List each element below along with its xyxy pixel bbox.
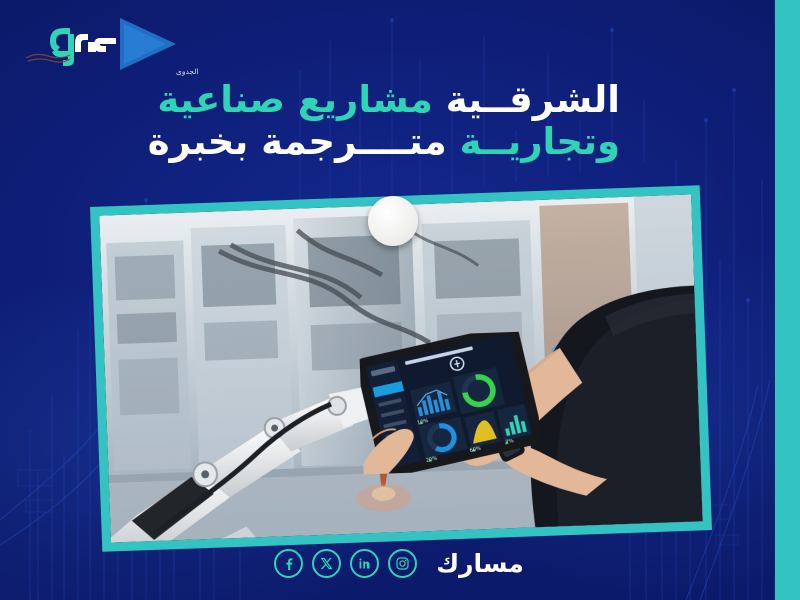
headline-line-2: وتجاريــة متــــرجمة بخبرة — [148, 122, 620, 162]
social-facebook-button[interactable] — [274, 549, 303, 578]
headline-block: الشرقــية مشاريع صناعية وتجاريــة متــــ… — [148, 80, 620, 164]
instagram-icon — [395, 556, 410, 571]
decorative-circle-marker — [368, 196, 418, 246]
x-twitter-icon — [319, 556, 334, 571]
social-x-button[interactable] — [312, 549, 341, 578]
poster-canvas: شركة مسارك للدراسات الجدوى الشرقــية مشا… — [0, 0, 800, 600]
right-edge-accent-bar — [775, 0, 800, 600]
facebook-icon — [281, 556, 297, 572]
linkedin-icon — [357, 556, 372, 571]
social-instagram-button[interactable] — [388, 549, 417, 578]
headline-line1-white: الشرقــية — [446, 78, 620, 121]
headline-line2-white: متــــرجمة بخبرة — [148, 120, 447, 163]
svg-text:شركة مسارك للدراسات الجدوى: شركة مسارك للدراسات الجدوى — [176, 67, 198, 76]
social-links-row: مسارك — [0, 549, 800, 578]
headline-line1-teal: مشاريع صناعية — [157, 78, 432, 121]
footer-brand-name: مسارك — [436, 549, 524, 578]
social-linkedin-button[interactable] — [350, 549, 379, 578]
headline-line-1: الشرقــية مشاريع صناعية — [148, 80, 620, 120]
company-logo[interactable]: شركة مسارك للدراسات الجدوى — [8, 8, 198, 80]
headline-line2-teal: وتجاريــة — [460, 120, 620, 163]
hero-photo: ▲▲ ▲▲ 10%20% 60%7% — [99, 195, 702, 543]
tablet-device: ▲▲ ▲▲ 10%20% 60%7% — [358, 331, 540, 475]
